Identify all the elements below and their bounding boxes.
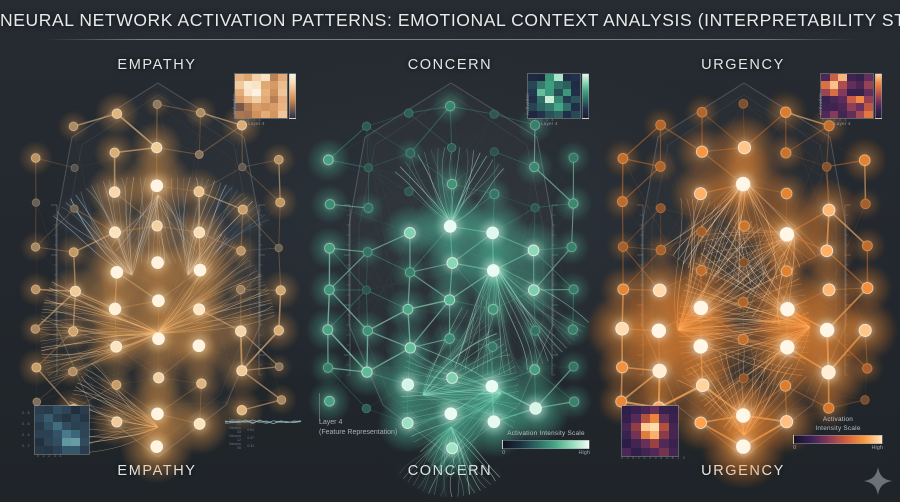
heatmap-cell	[864, 81, 873, 88]
heatmap-cell	[537, 111, 546, 118]
heatmap-cell	[847, 74, 856, 81]
heatmap-cell	[244, 103, 253, 110]
heatmap-cell	[235, 74, 244, 81]
heatmap-cell	[53, 438, 62, 446]
heatmap-cell	[252, 96, 261, 103]
heatmap-cell	[650, 439, 659, 447]
heatmap-cell	[537, 103, 546, 110]
heatmap-cell	[838, 81, 847, 88]
heatmap-cell	[856, 111, 865, 118]
heatmap-cell	[659, 406, 668, 414]
legend-colorbar-urgency	[793, 435, 883, 444]
heatmap-cell	[235, 81, 244, 88]
heatmap-cell	[261, 74, 270, 81]
annotation-leader-line	[319, 393, 320, 421]
heatmap-cell	[80, 414, 89, 422]
heatmap-cell	[641, 439, 650, 447]
trace-value: 0.31	[243, 444, 254, 448]
inset-empathy-layer4: Activation Layer 4 0 1 2 3 4	[234, 73, 288, 119]
heatmap-cell	[864, 111, 873, 118]
heatmap-cell	[659, 439, 668, 447]
heatmap-cell	[554, 103, 563, 110]
inset2-y-ticks-empathy: 0.80.60.40.2	[22, 408, 31, 452]
heatmap-cell	[278, 74, 287, 81]
heatmap-cell	[571, 89, 580, 96]
heatmap-cell	[80, 438, 89, 446]
sparkline	[225, 418, 301, 426]
heatmap-cell	[554, 74, 563, 81]
legend-urgency: Activation Intensity Scale 0 High	[793, 415, 883, 451]
heatmap-cell	[669, 423, 678, 431]
inset2-x-ticks-urgency: 0.0 0.2 0.4 0.6 0.8 1.0	[621, 456, 686, 460]
legend-max-urgency: High	[871, 445, 883, 451]
heatmap-cell	[847, 81, 856, 88]
table-row: Neuron 120.47	[225, 434, 301, 442]
heatmap-cell	[53, 430, 62, 438]
heatmap-cell	[244, 81, 253, 88]
heatmap-cell	[838, 74, 847, 81]
inset-y-label-urgency: Activation	[818, 93, 823, 115]
heatmap-cell	[847, 89, 856, 96]
inset-empathy-lower: 0.80.60.40.2 0 1 2 3 4	[34, 405, 90, 455]
heatmap-cell	[631, 439, 640, 447]
heatmap-cell	[261, 81, 270, 88]
heatmap-cell	[864, 89, 873, 96]
heatmap-cell	[545, 89, 554, 96]
heatmap-cell	[631, 448, 640, 456]
heatmap-cell	[278, 89, 287, 96]
heatmap-cell	[53, 422, 62, 430]
heatmap-cell	[62, 446, 71, 454]
heatmap-cell	[847, 103, 856, 110]
inset-urgency-layer4: Activation Layer 4 0 1 2 3 4	[820, 73, 874, 119]
heatmap-cell	[278, 96, 287, 103]
heatmap-cell	[631, 423, 640, 431]
panel-title-urgency: URGENCY	[608, 57, 878, 73]
heatmap-cell	[641, 414, 650, 422]
heatmap-cell	[563, 89, 572, 96]
heatmap-cell	[641, 448, 650, 456]
panel-title-concern: CONCERN	[315, 57, 585, 73]
heatmap-cell	[650, 448, 659, 456]
heatmap-cell	[669, 406, 678, 414]
heatmap-cell	[270, 74, 279, 81]
annotation-line-2: (Feature Representation)	[319, 429, 397, 436]
heatmap-cell	[821, 81, 830, 88]
legend-title-concern: Activation Intensity Scale	[502, 429, 590, 438]
heatmap-cell	[53, 414, 62, 422]
heatmap-cell	[270, 81, 279, 88]
heatmap-cell	[571, 111, 580, 118]
heatmap-cell	[571, 74, 580, 81]
heatmap-cell	[622, 414, 631, 422]
heatmap-cell	[244, 74, 253, 81]
heatmap-cell	[537, 81, 546, 88]
heatmap-cell	[270, 111, 279, 118]
trace-label: Neuron 05	[225, 442, 243, 450]
heatmap-cell	[545, 96, 554, 103]
inset-y-label-empathy: Activation	[232, 93, 237, 115]
heatmap-cell	[252, 89, 261, 96]
heatmap-cell	[71, 406, 80, 414]
heatmap-cell	[864, 103, 873, 110]
heatmap-cell	[830, 81, 839, 88]
trace-value: 0.47	[243, 436, 254, 440]
heatmap-cell	[252, 103, 261, 110]
trace-label: Neuron 33	[225, 426, 243, 434]
table-row: Neuron 050.31	[225, 442, 301, 450]
heatmap-cell	[252, 81, 261, 88]
heatmap-cell	[641, 423, 650, 431]
heatmap-cell	[35, 406, 44, 414]
heatmap-cell	[659, 423, 668, 431]
heatmap-cell	[44, 406, 53, 414]
heatmap-cell	[830, 89, 839, 96]
heatmap-cell	[71, 438, 80, 446]
heatmap-cell	[62, 438, 71, 446]
heatmap-cell	[244, 96, 253, 103]
heatmap-cell	[80, 446, 89, 454]
heatmap-cell	[278, 81, 287, 88]
table-row: Neuron 330.64	[225, 426, 301, 434]
heatmap-cell	[641, 406, 650, 414]
heatmap-cell	[856, 74, 865, 81]
heatmap-cell	[71, 446, 80, 454]
heatmap-cell	[571, 96, 580, 103]
layer4-annotation: Layer 4 (Feature Representation)	[319, 418, 397, 437]
heatmap-cell	[62, 422, 71, 430]
heatmap-cell	[631, 406, 640, 414]
heatmap-cell	[669, 439, 678, 447]
heatmap-cell	[278, 103, 287, 110]
heatmap-cell	[80, 422, 89, 430]
trace-value: 0.64	[243, 428, 254, 432]
heatmap-cell	[641, 431, 650, 439]
heatmap-cell	[554, 111, 563, 118]
heatmap-cell	[571, 81, 580, 88]
heatmap-cell	[838, 96, 847, 103]
heatmap-cell	[261, 89, 270, 96]
heatmap-cell	[650, 414, 659, 422]
heatmap-cell	[261, 96, 270, 103]
heatmap-cell	[545, 74, 554, 81]
heatmap-cell	[622, 406, 631, 414]
heatmap-cell	[80, 430, 89, 438]
network-panel-urgency: Activation Layer 4 0 1 2 3 4 0.0 0.2 0.4…	[598, 75, 890, 465]
heatmap-cell	[537, 89, 546, 96]
heatmap-cell	[830, 74, 839, 81]
legend-title-urgency-line1: Activation	[793, 415, 883, 424]
heatmap-cell	[35, 438, 44, 446]
heatmap-cell	[838, 111, 847, 118]
heatmap-cell	[528, 74, 537, 81]
heatmap-cell	[62, 430, 71, 438]
heatmap-cell	[659, 431, 668, 439]
title-divider	[44, 39, 856, 40]
legend-max-concern: High	[578, 450, 590, 456]
heatmap-cell	[856, 81, 865, 88]
legend-colorbar-concern	[502, 440, 590, 449]
network-panel-concern: Activation Layer 4 0 1 2 3 4 Layer 4 (Fe…	[305, 75, 597, 465]
heatmap-cell	[563, 103, 572, 110]
heatmap-cell	[659, 448, 668, 456]
activation-trace-table-empathy: Neuron 710.82Neuron 330.64Neuron 120.47N…	[225, 418, 301, 450]
heatmap-cell	[35, 422, 44, 430]
heatmap-cell	[669, 414, 678, 422]
heatmap-cell	[62, 406, 71, 414]
heatmap-cell	[35, 414, 44, 422]
heatmap-cell	[631, 431, 640, 439]
heatmap-cell	[622, 439, 631, 447]
figure-header: NEURAL NETWORK ACTIVATION PATTERNS: EMOT…	[0, 10, 900, 40]
heatmap-cell	[563, 74, 572, 81]
heatmap-cell	[71, 414, 80, 422]
heatmap-cell	[847, 111, 856, 118]
heatmap-cell	[563, 81, 572, 88]
inset-x-ticks-concern: 0 1 2 3 4	[529, 118, 555, 122]
heatmap-cell	[261, 103, 270, 110]
heatmap-cell	[650, 406, 659, 414]
heatmap-cell	[563, 111, 572, 118]
heatmap-cell	[847, 96, 856, 103]
heatmap-cell	[856, 96, 865, 103]
heatmap-cell	[545, 81, 554, 88]
panel-title-empathy: EMPATHY	[22, 57, 292, 73]
heatmap-cell	[537, 74, 546, 81]
heatmap-cell	[44, 438, 53, 446]
heatmap-cell	[856, 103, 865, 110]
page-title: NEURAL NETWORK ACTIVATION PATTERNS: EMOT…	[0, 10, 900, 31]
heatmap-cell	[44, 414, 53, 422]
heatmap-cell	[71, 422, 80, 430]
heatmap-cell	[545, 103, 554, 110]
heatmap-cell	[830, 111, 839, 118]
heatmap-cell	[44, 430, 53, 438]
heatmap-cell	[631, 414, 640, 422]
legend-min-concern: 0	[502, 450, 505, 456]
heatmap-cell	[622, 448, 631, 456]
heatmap-cell	[830, 96, 839, 103]
heatmap-cell	[650, 423, 659, 431]
network-panel-empathy: Activation Layer 4 0 1 2 3 4 0.80.60.40.…	[12, 75, 304, 465]
heatmap-cell	[261, 111, 270, 118]
heatmap-cell	[71, 430, 80, 438]
heatmap-cell	[571, 103, 580, 110]
heatmap-cell	[62, 414, 71, 422]
heatmap-cell	[838, 103, 847, 110]
legend-title-urgency-line2: Intensity Scale	[793, 424, 883, 433]
heatmap-cell	[252, 74, 261, 81]
heatmap-cell	[659, 414, 668, 422]
heatmap-cell	[545, 111, 554, 118]
heatmap-cell	[622, 423, 631, 431]
heatmap-cell	[554, 89, 563, 96]
heatmap-cell	[622, 431, 631, 439]
inset-y-label-concern: Activation	[525, 93, 530, 115]
heatmap-cell	[270, 96, 279, 103]
heatmap-cell	[563, 96, 572, 103]
heatmap-cell	[650, 431, 659, 439]
concern-network-graph	[305, 75, 597, 465]
legend-concern: Activation Intensity Scale 0 High	[502, 429, 590, 456]
heatmap-cell	[252, 111, 261, 118]
heatmap-cell	[554, 81, 563, 88]
heatmap-cell	[270, 89, 279, 96]
heatmap-cell	[537, 96, 546, 103]
legend-min-urgency: 0	[793, 445, 796, 451]
heatmap-cell	[669, 431, 678, 439]
heatmap-cell	[278, 111, 287, 118]
heatmap-cell	[270, 103, 279, 110]
heatmap-cell	[830, 103, 839, 110]
heatmap-cell	[244, 89, 253, 96]
heatmap-cell	[864, 96, 873, 103]
heatmap-cell	[838, 89, 847, 96]
sparkle-icon	[863, 466, 893, 496]
heatmap-cell	[554, 96, 563, 103]
heatmap-cell	[864, 74, 873, 81]
trace-label: Neuron 12	[225, 434, 243, 442]
heatmap-cell	[35, 430, 44, 438]
heatmap-cell	[244, 111, 253, 118]
inset-urgency-field: 0.0 0.2 0.4 0.6 0.8 1.0	[621, 405, 679, 457]
inset-x-ticks-urgency: 0 1 2 3 4	[822, 118, 848, 122]
annotation-line-1: Layer 4	[319, 419, 342, 426]
heatmap-cell	[44, 422, 53, 430]
inset-x-ticks-empathy: 0 1 2 3 4	[236, 118, 262, 122]
heatmap-cell	[821, 74, 830, 81]
heatmap-cell	[44, 446, 53, 454]
heatmap-cell	[669, 448, 678, 456]
heatmap-cell	[80, 406, 89, 414]
heatmap-cell	[53, 406, 62, 414]
activation-visualization-figure: NEURAL NETWORK ACTIVATION PATTERNS: EMOT…	[0, 0, 900, 502]
heatmap-cell	[528, 81, 537, 88]
inset-concern-layer4: Activation Layer 4 0 1 2 3 4	[527, 73, 581, 119]
inset2-x-ticks-empathy: 0 1 2 3 4	[37, 454, 63, 458]
heatmap-cell	[35, 446, 44, 454]
heatmap-cell	[53, 446, 62, 454]
heatmap-cell	[856, 89, 865, 96]
